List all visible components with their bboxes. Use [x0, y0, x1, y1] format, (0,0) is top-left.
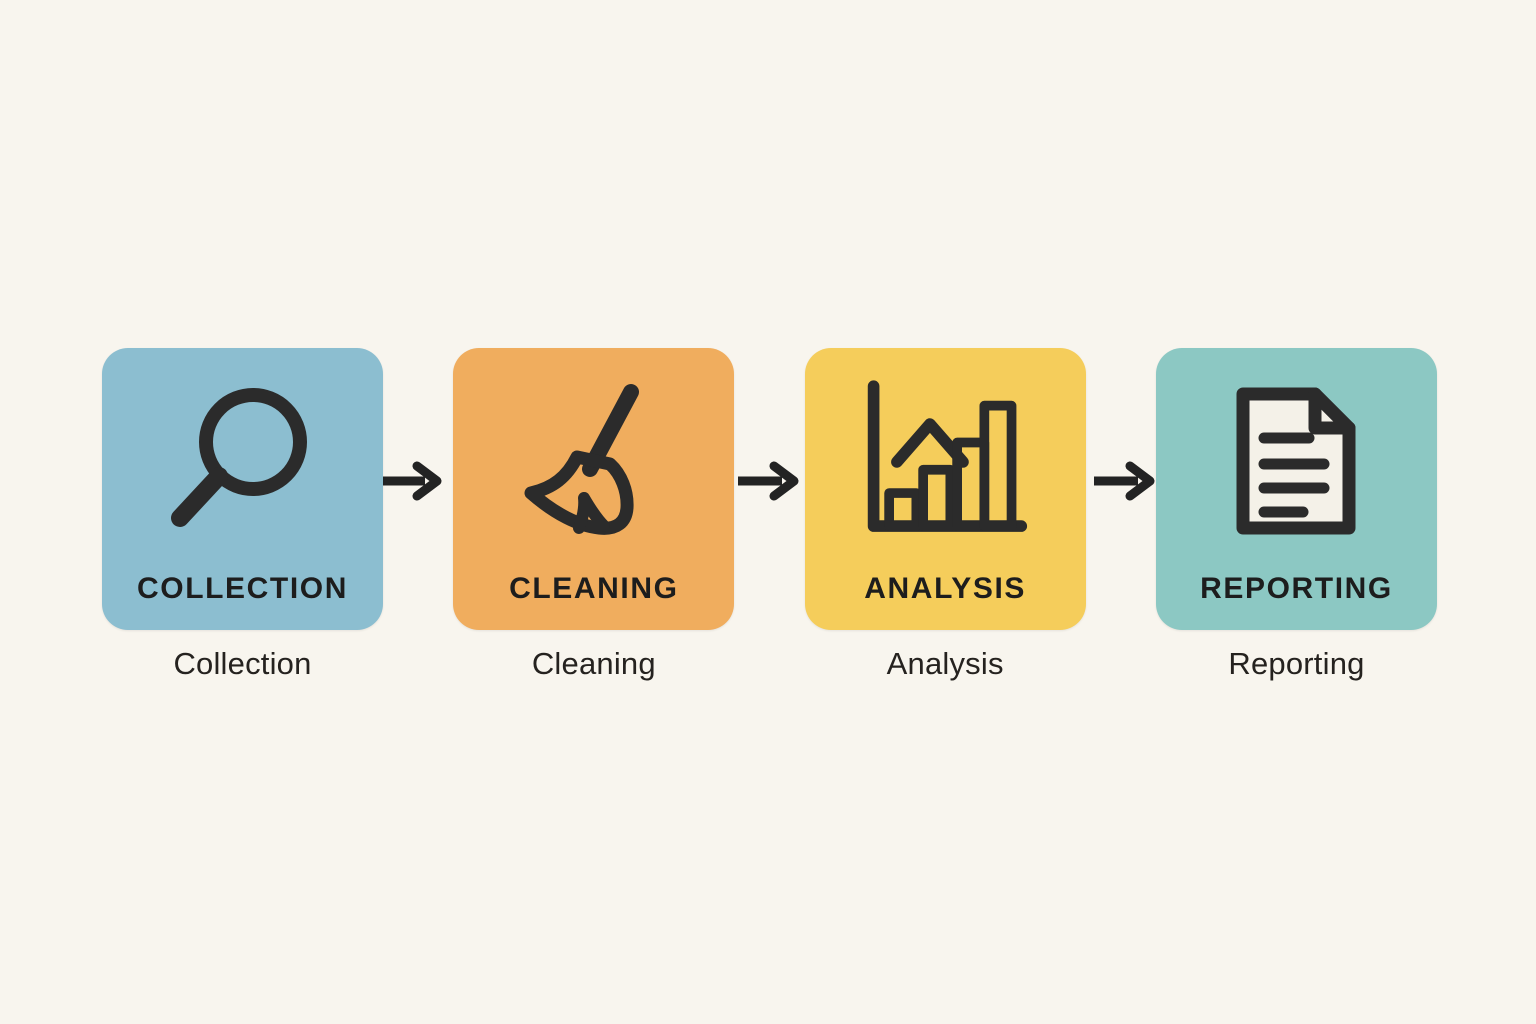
- step-caption-cleaning: Cleaning: [532, 647, 656, 681]
- document-icon: [1211, 376, 1381, 546]
- broom-icon: [509, 376, 679, 546]
- step-caption-reporting: Reporting: [1228, 647, 1364, 681]
- card-title-reporting: REPORTING: [1156, 574, 1437, 604]
- magnifier-icon: [158, 376, 328, 546]
- process-step-reporting: REPORTING Reporting: [1156, 348, 1437, 681]
- step-caption-analysis: Analysis: [887, 647, 1004, 681]
- process-step-collection: COLLECTION Collection: [102, 348, 383, 681]
- step-card-reporting[interactable]: REPORTING: [1156, 348, 1437, 630]
- card-title-analysis: ANALYSIS: [805, 574, 1086, 604]
- process-flow-diagram: COLLECTION Collection CLEANING Cleaning: [0, 0, 1536, 1024]
- process-steps-row: COLLECTION Collection CLEANING Cleaning: [102, 348, 1437, 698]
- step-caption-collection: Collection: [173, 647, 311, 681]
- process-step-cleaning: CLEANING Cleaning: [453, 348, 734, 681]
- card-title-cleaning: CLEANING: [453, 574, 734, 604]
- step-card-analysis[interactable]: ANALYSIS: [805, 348, 1086, 630]
- process-step-analysis: ANALYSIS Analysis: [805, 348, 1086, 681]
- bar-chart-icon: [860, 376, 1030, 546]
- step-card-collection[interactable]: COLLECTION: [102, 348, 383, 630]
- step-card-cleaning[interactable]: CLEANING: [453, 348, 734, 630]
- card-title-collection: COLLECTION: [102, 574, 383, 604]
